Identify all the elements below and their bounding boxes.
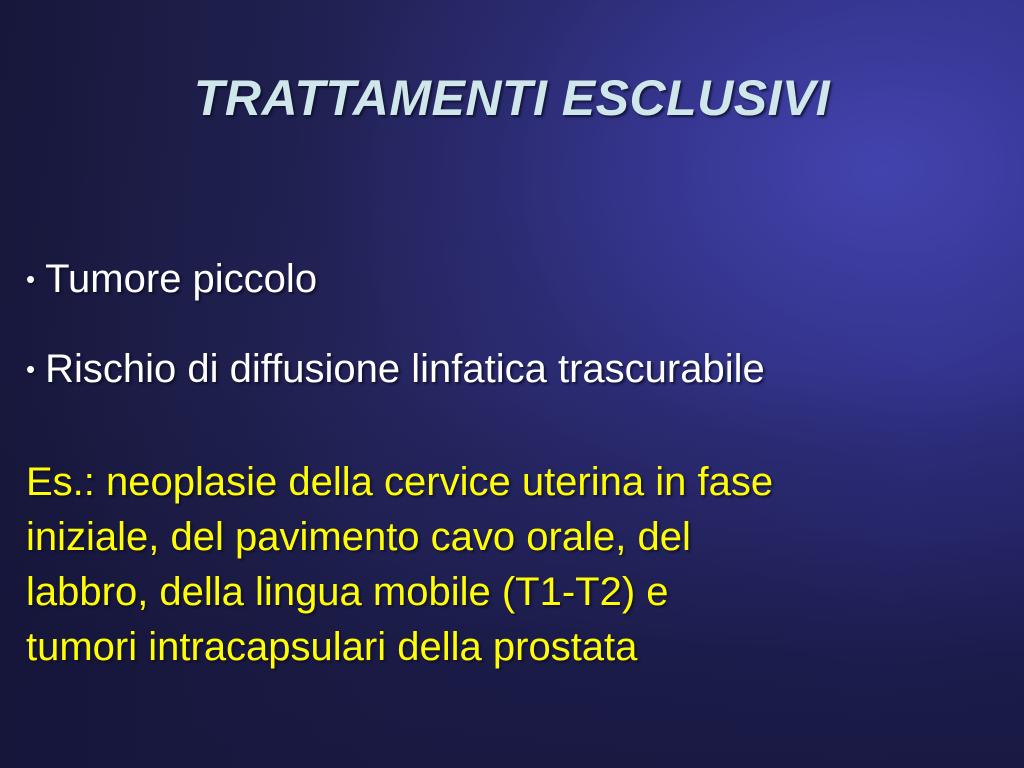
slide-title: TRATTAMENTI ESCLUSIVI xyxy=(0,73,1024,123)
slide-content: TRATTAMENTI ESCLUSIVI • Tumore piccolo •… xyxy=(0,0,1024,768)
example-paragraph: Es.: neoplasie della cervice uterina in … xyxy=(26,455,1006,675)
presentation-slide: TRATTAMENTI ESCLUSIVI • Tumore piccolo •… xyxy=(0,0,1024,768)
bullet-point-icon: • xyxy=(26,348,35,390)
example-line: labbro, della lingua mobile (T1-T2) e xyxy=(26,565,1006,620)
bullet-point-icon: • xyxy=(26,258,35,300)
bullet-item-rischio-diffusione: • Rischio di diffusione linfatica trascu… xyxy=(26,348,1006,390)
example-line: Es.: neoplasie della cervice uterina in … xyxy=(26,455,1006,510)
bullet-list: • Tumore piccolo • Rischio di diffusione… xyxy=(26,258,1006,438)
bullet-item-label: Rischio di diffusione linfatica trascura… xyxy=(45,348,765,390)
example-line: iniziale, del pavimento cavo orale, del xyxy=(26,510,1006,565)
bullet-item-tumore-piccolo: • Tumore piccolo xyxy=(26,258,1006,300)
bullet-item-label: Tumore piccolo xyxy=(45,258,317,300)
example-line: tumori intracapsulari della prostata xyxy=(26,620,1006,675)
